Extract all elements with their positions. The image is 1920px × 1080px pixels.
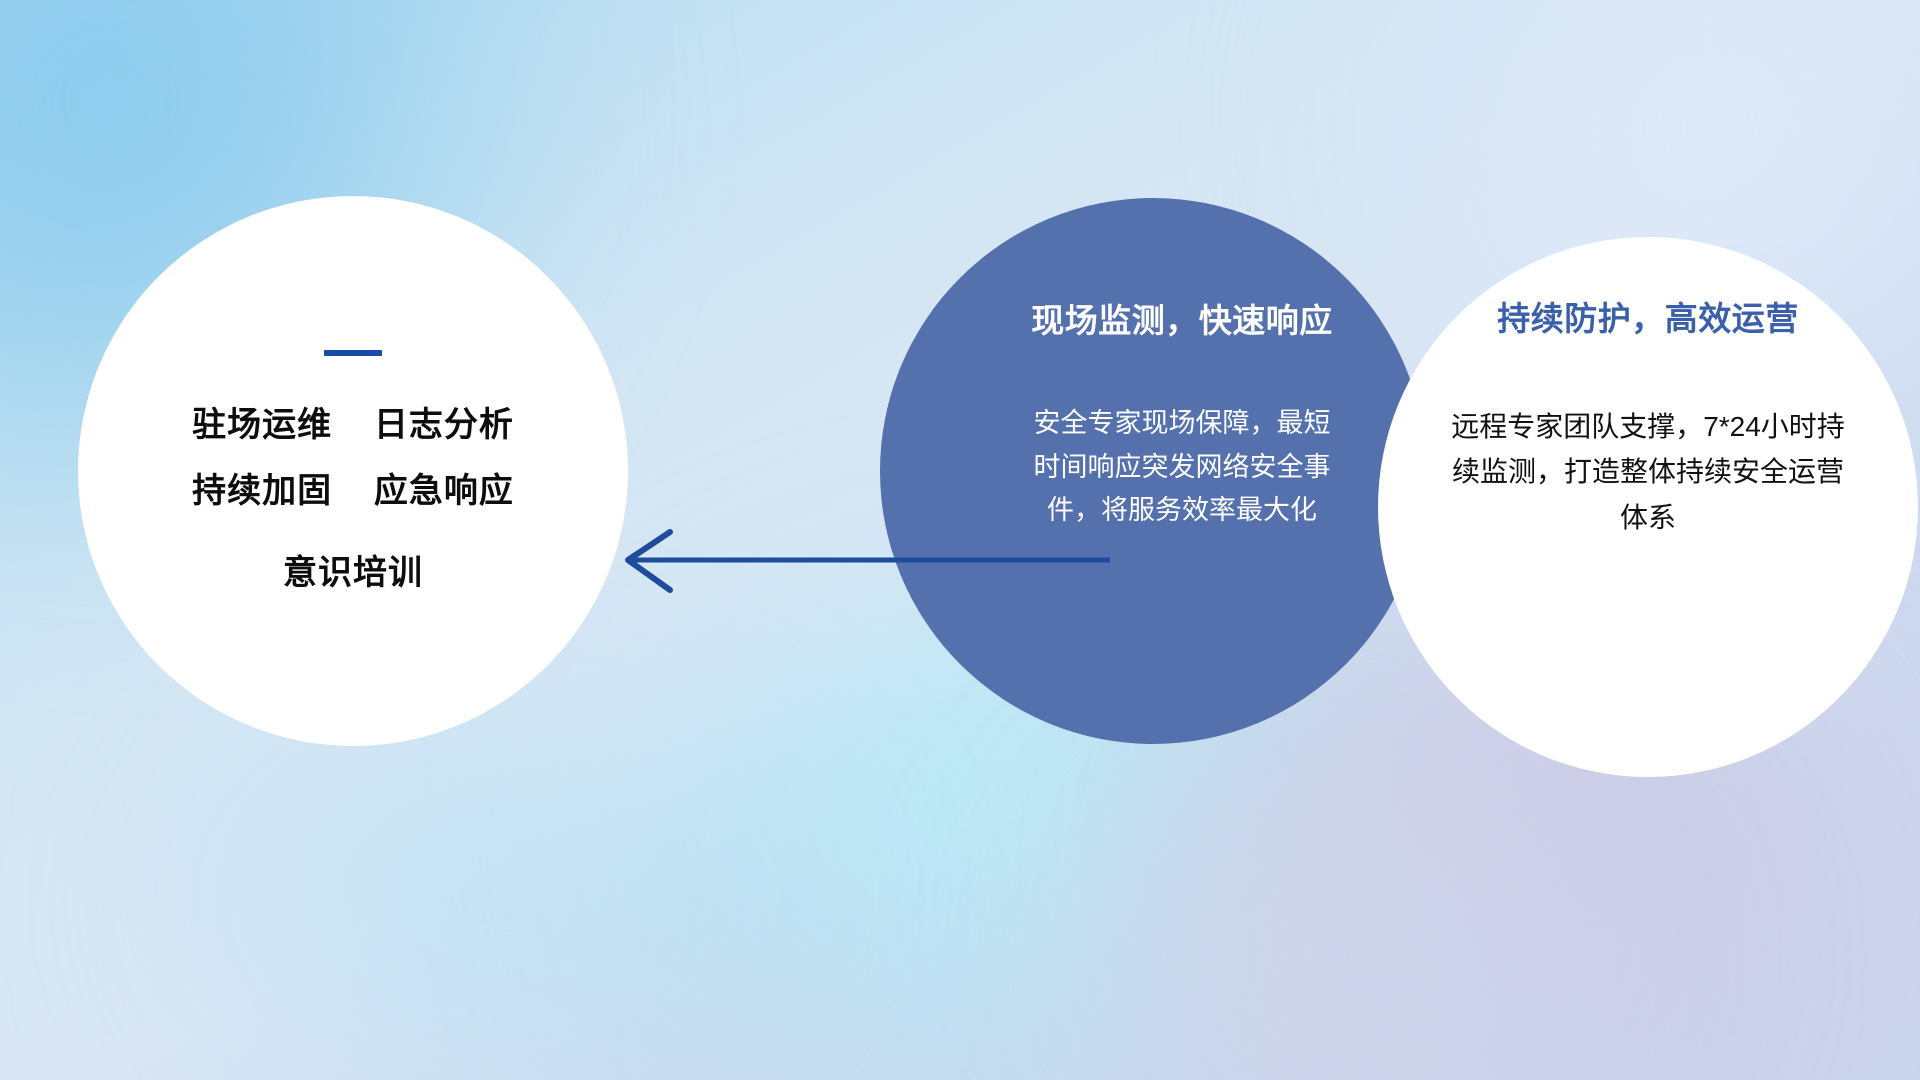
right-circle-title: 持续防护，高效运营 (1497, 292, 1799, 340)
capability-line-2: 持续加固 应急响应 (192, 474, 514, 510)
right-circle-content: 持续防护，高效运营 远程专家团队支撑，7*24小时持续监测，打造整体持续安全运营… (1378, 237, 1918, 777)
middle-circle-content: 现场监测，快速响应 安全专家现场保障，最短时间响应突发网络安全事件，将服务效率最… (880, 198, 1426, 744)
capability-line-3: 意识培训 (283, 556, 423, 592)
middle-circle-title: 现场监测，快速响应 (1031, 294, 1333, 342)
middle-circle-body: 安全专家现场保障，最短时间响应突发网络安全事件，将服务效率最大化 (1032, 402, 1332, 533)
right-circle-body: 远程专家团队支撑，7*24小时持续监测，打造整体持续安全运营体系 (1439, 404, 1857, 540)
slide-canvas: 驻场运维 日志分析 持续加固 应急响应 意识培训 现场监测，快速响应 安全专家现… (0, 0, 1920, 1080)
accent-dash-icon (324, 350, 382, 356)
left-circle-content: 驻场运维 日志分析 持续加固 应急响应 意识培训 (78, 196, 628, 746)
capability-line-1: 驻场运维 日志分析 (192, 408, 514, 444)
